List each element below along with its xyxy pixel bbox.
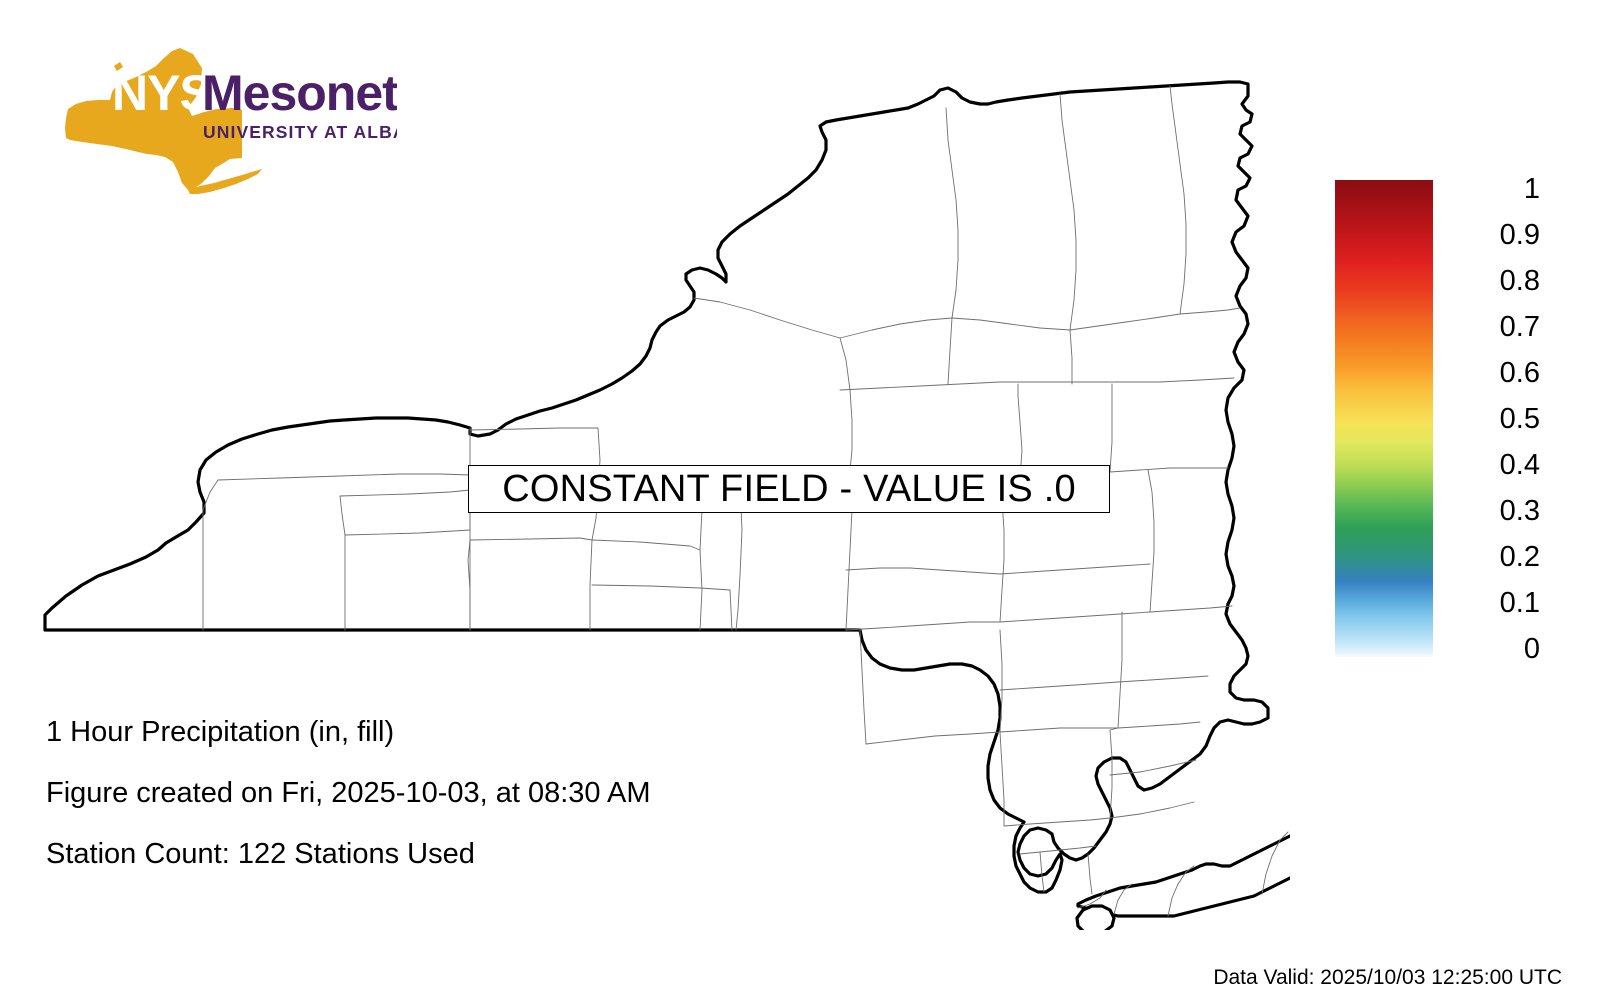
caption-station-count-label: Station Count: 122 Stations Used [46,840,866,869]
colorbar-tick-11: 0 [1524,635,1540,664]
colorbar-gradient [1335,180,1433,657]
colorbar-tick-1: 1 [1524,175,1540,204]
colorbar-tick-3: 0.8 [1500,267,1540,296]
data-valid-timestamp: Data Valid: 2025/10/03 12:25:00 UTC [1213,967,1562,988]
colorbar-tick-10: 0.1 [1500,589,1540,618]
constant-field-annotation-box: CONSTANT FIELD - VALUE IS .0 [468,465,1110,513]
caption-created-label: Figure created on Fri, 2025-10-03, at 08… [46,779,866,808]
constant-field-label: CONSTANT FIELD - VALUE IS .0 [502,470,1076,508]
colorbar-tick-6: 0.5 [1500,405,1540,434]
colorbar-tick-9: 0.2 [1500,543,1540,572]
colorbar-tick-5: 0.6 [1500,359,1540,388]
caption-block: 1 Hour Precipitation (in, fill) Figure c… [46,718,866,901]
colorbar-tick-8: 0.3 [1500,497,1540,526]
colorbar-tick-4: 0.7 [1500,313,1540,342]
colorbar-tick-2: 0.9 [1500,221,1540,250]
caption-product-label: 1 Hour Precipitation (in, fill) [46,718,866,747]
colorbar: 1 0.9 0.8 0.7 0.6 0.5 0.4 0.3 0.2 0.1 0 [1310,175,1550,665]
colorbar-tick-7: 0.4 [1500,451,1540,480]
colorbar-tick-labels: 1 0.9 0.8 0.7 0.6 0.5 0.4 0.3 0.2 0.1 0 [1440,175,1545,662]
